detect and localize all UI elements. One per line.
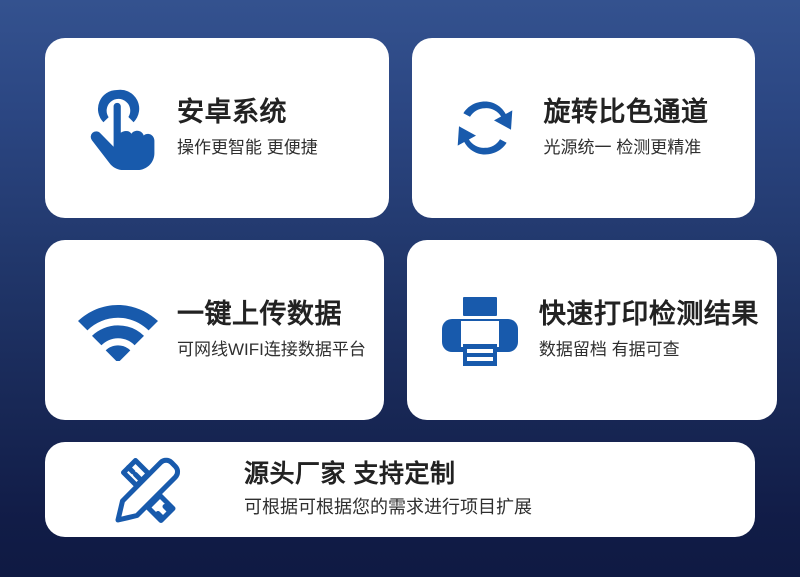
- pencil-ruler-icon: [100, 444, 196, 536]
- feature-subtitle: 操作更智能 更便捷: [177, 137, 318, 159]
- feature-card-rotating-channel[interactable]: 旋转比色通道 光源统一 检测更精准: [412, 38, 756, 218]
- touch-hand-icon: [75, 82, 161, 174]
- banner-card-customization[interactable]: 源头厂家 支持定制 可根据可根据您的需求进行项目扩展: [45, 442, 755, 537]
- feature-text-rotating-channel: 旋转比色通道 光源统一 检测更精准: [544, 97, 709, 160]
- banner-text-customization: 源头厂家 支持定制 可根据可根据您的需求进行项目扩展: [244, 460, 532, 520]
- feature-card-android[interactable]: 安卓系统 操作更智能 更便捷: [45, 38, 389, 218]
- banner-title: 源头厂家 支持定制: [244, 460, 455, 490]
- feature-title: 一键上传数据: [177, 299, 366, 331]
- wifi-icon: [75, 284, 161, 376]
- rotate-refresh-icon: [442, 82, 528, 174]
- feature-poster: 安卓系统 操作更智能 更便捷 旋转比色通道 光源统一 检测更精准: [0, 0, 800, 577]
- feature-text-android: 安卓系统 操作更智能 更便捷: [177, 97, 318, 160]
- feature-title: 快速打印检测结果: [539, 299, 759, 331]
- feature-subtitle: 光源统一 检测更精准: [544, 137, 709, 159]
- banner-subtitle: 可根据可根据您的需求进行项目扩展: [244, 496, 532, 519]
- printer-icon: [437, 284, 523, 376]
- feature-card-upload[interactable]: 一键上传数据 可网线WIFI连接数据平台: [45, 240, 384, 420]
- feature-subtitle: 数据留档 有据可查: [539, 339, 759, 361]
- feature-row-1: 安卓系统 操作更智能 更便捷 旋转比色通道 光源统一 检测更精准: [45, 38, 755, 218]
- feature-text-print: 快速打印检测结果 数据留档 有据可查: [539, 299, 759, 362]
- feature-title: 安卓系统: [177, 97, 318, 129]
- feature-text-upload: 一键上传数据 可网线WIFI连接数据平台: [177, 299, 366, 362]
- feature-row-2: 一键上传数据 可网线WIFI连接数据平台 快速打印检测结果 数据留档 有据可查: [45, 240, 755, 420]
- feature-title: 旋转比色通道: [544, 97, 709, 129]
- feature-subtitle: 可网线WIFI连接数据平台: [177, 339, 366, 361]
- feature-card-print[interactable]: 快速打印检测结果 数据留档 有据可查: [407, 240, 777, 420]
